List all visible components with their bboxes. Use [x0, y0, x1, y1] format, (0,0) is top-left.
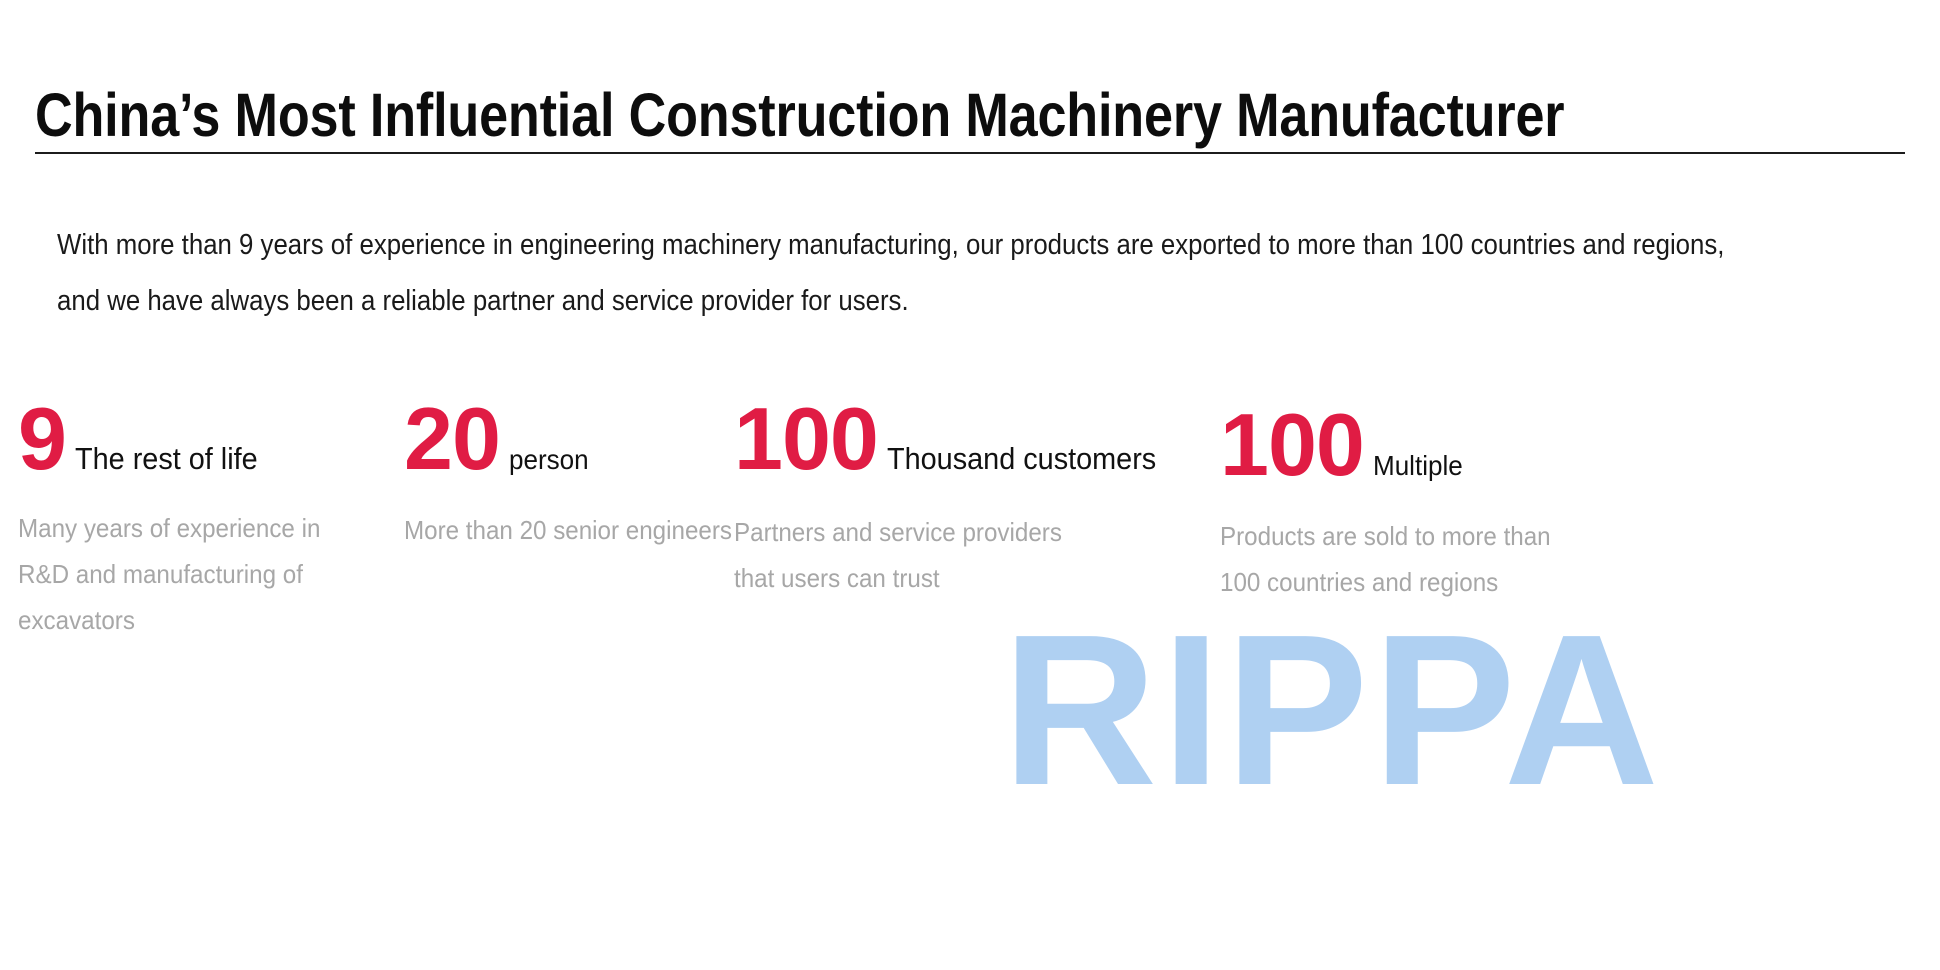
title-divider — [35, 152, 1905, 154]
stat-number: 20 — [404, 395, 500, 483]
stat-unit-label: Multiple — [1373, 450, 1463, 481]
stat-headline: 9 The rest of life — [18, 395, 348, 483]
stat-number: 9 — [18, 395, 66, 483]
stat-block-rest-of-life: 9 The rest of life Many years of experie… — [18, 395, 348, 643]
stat-unit-label: person — [509, 444, 589, 475]
stat-unit-label: Thousand customers — [887, 443, 1156, 474]
stat-number: 100 — [1220, 401, 1364, 489]
stat-block-thousand-customers: 100 Thousand customers Partners and serv… — [734, 395, 1176, 601]
page-title: China’s Most Influential Construction Ma… — [35, 79, 1638, 151]
stat-block-multiple: 100 Multiple Products are sold to more t… — [1220, 395, 1620, 605]
intro-paragraph: With more than 9 years of experience in … — [57, 217, 1758, 329]
rippa-watermark: RIPPA — [1002, 602, 1663, 817]
stat-headline: 100 Thousand customers — [734, 395, 1176, 483]
stat-headline: 20 person — [404, 395, 757, 483]
stat-description: Partners and service providers that user… — [734, 509, 1106, 601]
stat-description: More than 20 senior engineers — [404, 507, 732, 553]
stat-unit-label: The rest of life — [75, 443, 258, 474]
stat-headline: 100 Multiple — [1220, 401, 1620, 489]
stat-description: Many years of experience in R&D and manu… — [18, 505, 325, 643]
stat-block-person: 20 person More than 20 senior engineers — [404, 395, 757, 553]
stat-number: 100 — [734, 395, 878, 483]
